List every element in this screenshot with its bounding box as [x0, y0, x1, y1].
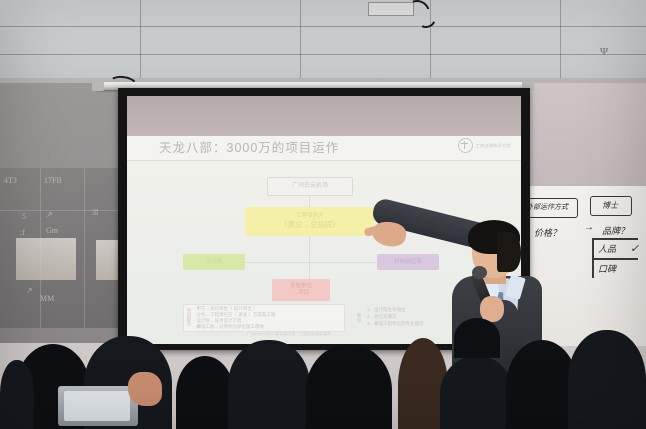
diagram-node-engineering: 工程事务方 （黄总→总指挥） [245, 207, 375, 236]
slide-title: 天龙八部：3000万的项目运作 [159, 137, 459, 159]
slide-footer: 广州白云机场T2航站楼项目 · 工程运作组织架构 [247, 331, 331, 337]
ceiling: Ψ [0, 0, 646, 82]
slide-note-right-line-3: 3、幕墙工程单位的专业能力 [367, 321, 424, 328]
diagram-node-supplier: 材料供应商 [377, 254, 439, 270]
photo-scene: Ψ 4T3 17FB 5 ↗ 3l :f Gm ↗ MM 外部运作方式 博士 →… [0, 0, 646, 429]
slide-top-band [127, 96, 521, 136]
audience-hand [128, 372, 162, 406]
diagram-node-airport-label: 广州白云机场 [292, 183, 328, 190]
audience-head [568, 330, 646, 429]
microphone-head-icon [472, 266, 487, 279]
whiteboard-item-1: 人品 [598, 242, 616, 255]
slide-logo-text: 工商业建筑研究院 [476, 143, 511, 149]
audience-head [228, 340, 310, 429]
diagram-node-design: 设计院 [183, 254, 245, 270]
ceiling-vent-icon: Ψ [600, 46, 608, 58]
slide-note-left-tab: 项目职责 [185, 306, 192, 328]
whiteboard-arrow-right-icon: → [584, 222, 594, 233]
presenter-hair-side [497, 232, 521, 272]
audience-head [0, 360, 34, 429]
slide-note-left-line-4: ·幕墙工程→分项外包单位施工落地 [195, 324, 264, 331]
diagram-node-airport: 广州白云机场 [267, 177, 353, 196]
audience-head [176, 356, 234, 429]
diagram-node-contractor-line1: 总包单位 [290, 283, 312, 290]
audience-head [440, 356, 514, 429]
audience-head [306, 344, 392, 429]
diagram-node-design-label: 设计院 [206, 259, 223, 266]
whiteboard-label-left: 价格？ [534, 226, 561, 239]
diagram-node-contractor: 总包单位 →项目 [272, 279, 330, 301]
whiteboard-label-right: 品牌？ [602, 224, 629, 237]
audience-head [454, 318, 500, 358]
diagram-node-engineering-line2: （黄总→总指挥） [280, 220, 340, 230]
slide-note-right-tab: 要点 [355, 306, 362, 328]
slide-logo: 工商业建筑研究院 [458, 138, 511, 153]
anchor-logo-icon [458, 138, 473, 153]
whiteboard-item-2: 口碑 [598, 262, 616, 275]
diagram-node-supplier-label: 材料供应商 [394, 259, 422, 266]
whiteboard-check-icon: ✓ [630, 242, 639, 255]
slide-note-right-line-2: 2、总包方落实 [367, 314, 397, 321]
whiteboard-box-left-text: 外部运作方式 [526, 202, 568, 212]
wall-right [520, 83, 646, 193]
diagram-node-engineering-line1: 工程事务方 [296, 213, 324, 220]
left-chalkboard: 4T3 17FB 5 ↗ 3l :f Gm ↗ MM [0, 168, 120, 328]
diagram-node-contractor-line2: →项目 [293, 290, 310, 297]
slide-note-right-line-1: 1、设计院主导地位 [367, 307, 406, 314]
whiteboard-box-right-text: 博士 [602, 200, 618, 211]
camera-screen [64, 391, 130, 421]
